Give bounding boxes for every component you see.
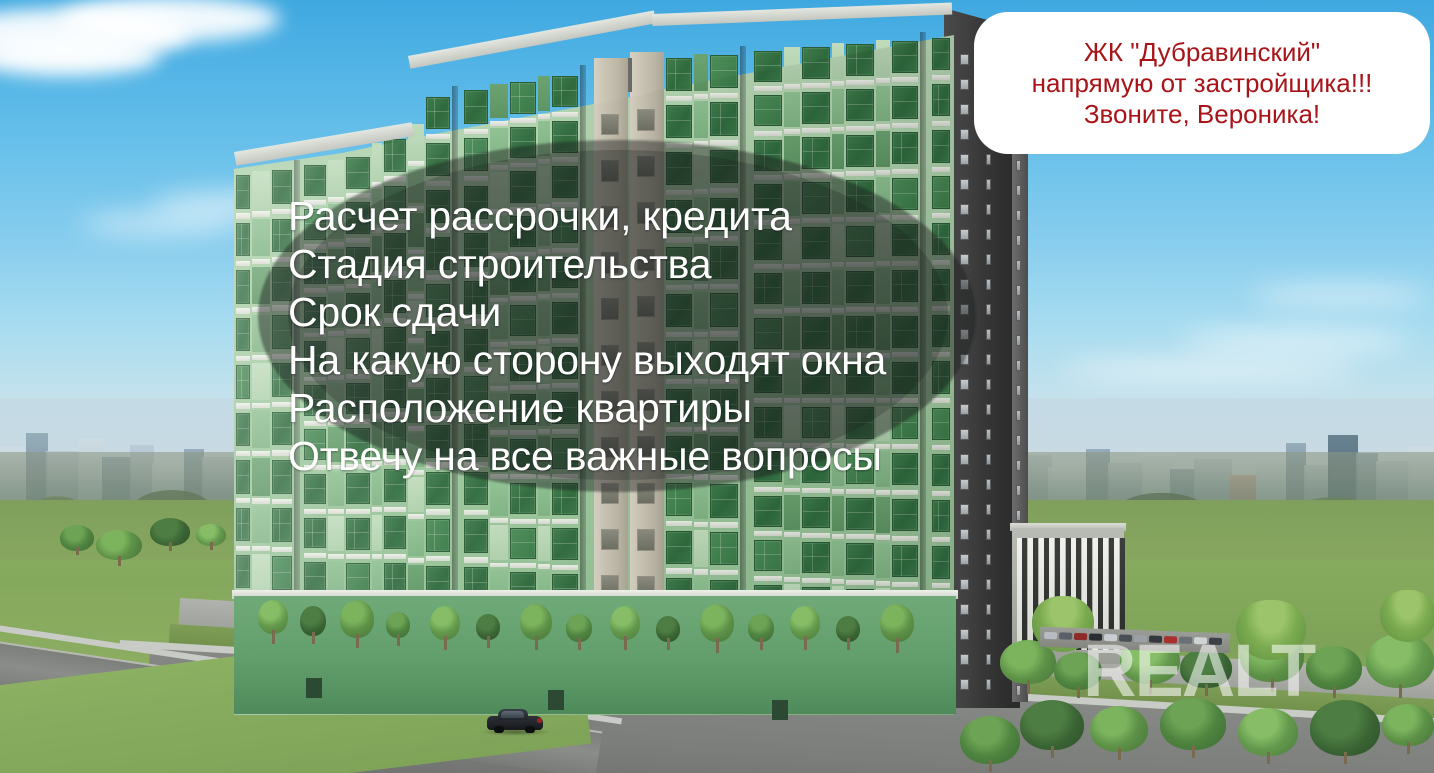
facade-window	[236, 413, 250, 446]
facade-window	[236, 508, 250, 541]
facade-band	[510, 563, 536, 568]
tree-trunk	[76, 547, 79, 555]
tower-edge-window	[1016, 285, 1021, 296]
tree-trunk	[1118, 748, 1121, 760]
tower-window	[960, 529, 969, 540]
tree-trunk	[397, 634, 400, 646]
facade-panel	[252, 171, 270, 208]
facade-band	[236, 451, 250, 456]
realt-watermark: REALT	[1083, 634, 1314, 708]
facade-band	[538, 519, 550, 524]
tower-edge-window	[1016, 310, 1021, 321]
tree-trunk	[1407, 742, 1410, 754]
facade-band	[464, 510, 488, 515]
facade-window	[236, 318, 250, 351]
facade-window	[846, 44, 874, 76]
tree	[790, 606, 820, 640]
facade-band	[832, 489, 844, 494]
stairwell-window	[601, 114, 619, 135]
tree-trunk	[444, 636, 447, 650]
facade-panel	[784, 539, 800, 574]
facade-band	[892, 582, 918, 587]
facade-band	[694, 569, 708, 574]
facade-window	[802, 542, 830, 573]
facade-band	[236, 308, 250, 313]
facade-band	[892, 536, 918, 541]
facade-window	[236, 270, 250, 303]
facade-window	[710, 102, 738, 135]
tree-trunk	[760, 638, 763, 650]
facade-window	[666, 531, 692, 564]
facade-panel	[328, 160, 344, 195]
tree	[700, 604, 734, 642]
facade-band	[666, 521, 692, 526]
tree	[258, 600, 288, 634]
tower-window	[960, 554, 969, 565]
facade-band	[710, 93, 738, 98]
facade-window	[552, 76, 578, 108]
tree-trunk	[578, 638, 581, 650]
building-stripe	[1022, 538, 1027, 650]
tree-trunk	[847, 638, 850, 650]
facade-panel	[832, 496, 844, 531]
facade-panel	[252, 458, 270, 495]
tower-edge-window	[1016, 410, 1021, 421]
facade-band	[784, 577, 800, 582]
facade-window	[754, 95, 782, 126]
facade-panel	[832, 89, 844, 124]
facade-panel	[784, 92, 800, 127]
facade-panel	[832, 541, 844, 576]
facade-window	[892, 132, 918, 164]
facade-band	[426, 509, 450, 514]
facade-panel	[876, 86, 890, 122]
tree	[1238, 708, 1298, 756]
cloud	[1060, 360, 1360, 380]
facade-band	[464, 557, 488, 562]
facade-window	[932, 130, 950, 162]
facade-band	[372, 507, 382, 512]
tower-window	[960, 579, 969, 590]
facade-band	[876, 170, 890, 175]
facade-band	[538, 114, 550, 119]
tree	[1306, 646, 1362, 690]
tower-edge-window	[1016, 435, 1021, 446]
facade-band	[346, 554, 370, 559]
facade-panel	[252, 219, 270, 256]
facade-band	[754, 576, 782, 581]
cloud	[1250, 286, 1430, 304]
facade-window	[802, 47, 830, 78]
entrance-door	[306, 678, 322, 698]
tower-window	[986, 654, 991, 665]
tower-window	[960, 654, 969, 665]
facade-band	[408, 558, 424, 563]
facade-window	[932, 38, 950, 70]
tree-trunk	[1344, 752, 1347, 764]
facade-band	[876, 581, 890, 586]
facade-band	[426, 134, 450, 139]
facade-band	[666, 96, 692, 101]
facade-band	[510, 118, 536, 123]
entrance-door	[548, 690, 564, 710]
tree	[1382, 704, 1434, 746]
stairwell-window	[637, 109, 655, 130]
facade-window	[272, 508, 292, 542]
facade-band	[754, 131, 782, 136]
facade-panel	[408, 477, 424, 511]
facade-panel	[784, 495, 800, 530]
tree-trunk	[1192, 746, 1195, 758]
facade-band	[932, 537, 950, 542]
facade-panel	[372, 143, 382, 179]
facade-panel	[490, 525, 508, 559]
facade-window	[236, 175, 250, 208]
facade-band	[754, 86, 782, 91]
facade-panel	[252, 506, 270, 543]
tower-edge-window	[1016, 260, 1021, 271]
tree-trunk	[169, 542, 172, 551]
tree-trunk	[989, 760, 992, 772]
stairwell-window	[601, 529, 619, 550]
facade-band	[754, 487, 782, 492]
tree-trunk	[1077, 686, 1080, 698]
facade-window	[510, 483, 536, 514]
facade-band	[694, 522, 708, 527]
facade-window	[754, 496, 782, 527]
tree-trunk	[1399, 684, 1402, 698]
tree	[340, 600, 374, 638]
facade-window	[710, 532, 738, 565]
tower-edge-window	[1016, 210, 1021, 221]
facade-band	[252, 259, 270, 264]
facade-panel	[490, 84, 508, 118]
facade-band	[236, 213, 250, 218]
facade-window	[932, 546, 950, 578]
facade-band	[236, 356, 250, 361]
facade-window	[236, 460, 250, 493]
tree-trunk	[716, 638, 719, 653]
facade-window	[666, 105, 692, 138]
facade-window	[932, 84, 950, 116]
facade-band	[372, 554, 382, 559]
facade-band	[408, 514, 424, 519]
facade-window	[236, 555, 250, 588]
facade-window	[272, 556, 292, 590]
tree-trunk	[356, 634, 359, 648]
facade-panel	[252, 410, 270, 447]
car-wheel	[494, 726, 504, 733]
tower-window	[960, 479, 969, 490]
tower-window	[986, 554, 991, 565]
facade-window	[846, 135, 874, 167]
facade-band	[784, 84, 800, 89]
facade-panel	[832, 43, 844, 78]
facade-panel	[694, 54, 708, 91]
car-window	[501, 711, 524, 718]
feature-list-overlay: Расчет рассрочки, кредита Стадия строите…	[288, 192, 1008, 480]
facade-panel	[490, 481, 508, 515]
tower-window	[960, 679, 969, 690]
facade-window	[464, 90, 488, 123]
facade-band	[490, 518, 508, 523]
facade-band	[832, 534, 844, 539]
facade-band	[252, 403, 270, 408]
tower-window	[960, 604, 969, 615]
facade-panel	[876, 40, 890, 76]
facade-panel	[252, 363, 270, 400]
facade-band	[272, 547, 292, 552]
facade-band	[846, 171, 874, 176]
facade-band	[802, 488, 830, 493]
facade-band	[328, 554, 344, 559]
tower-edge-window	[1016, 360, 1021, 371]
roof-antenna	[628, 58, 632, 92]
moving-car	[487, 709, 543, 733]
facade-band	[832, 579, 844, 584]
tower-window	[986, 529, 991, 540]
tower-edge-window	[1016, 685, 1021, 696]
tree-trunk	[312, 632, 315, 644]
facade-band	[892, 123, 918, 128]
facade-window	[510, 82, 536, 113]
tree	[960, 716, 1020, 764]
tree	[520, 604, 552, 640]
tower-edge-window	[1016, 160, 1021, 171]
facade-window	[802, 497, 830, 528]
facade-band	[892, 77, 918, 82]
facade-window	[236, 223, 250, 256]
facade-band	[328, 509, 344, 514]
facade-band	[552, 519, 578, 524]
tower-window	[986, 179, 991, 190]
tree-trunk	[210, 542, 213, 550]
tree	[1020, 700, 1084, 750]
tower-edge-window	[1016, 185, 1021, 196]
facade-band	[538, 564, 550, 569]
tower-window	[960, 129, 969, 140]
facade-band	[384, 507, 406, 512]
tower-window	[986, 504, 991, 515]
facade-band	[784, 129, 800, 134]
facade-window	[304, 518, 326, 549]
feature-line-5: Расположение квартиры	[288, 384, 1008, 432]
facade-window	[346, 157, 370, 189]
speech-bubble: ЖК "Дубравинский" напрямую от застройщик…	[974, 12, 1430, 154]
feature-line-1: Расчет рассрочки, кредита	[288, 192, 1008, 240]
facade-band	[510, 519, 536, 524]
facade-band	[710, 570, 738, 575]
tree	[1090, 706, 1148, 752]
facade-panel	[538, 76, 550, 111]
facade-window	[384, 516, 406, 549]
facade-window	[892, 41, 918, 73]
facade-window	[754, 51, 782, 82]
cloud	[80, 214, 240, 234]
tower-window	[986, 604, 991, 615]
facade-band	[252, 451, 270, 456]
facade-window	[426, 519, 450, 552]
facade-band	[832, 127, 844, 132]
facade-band	[552, 565, 578, 570]
facade-panel	[372, 515, 382, 551]
facade-panel	[876, 497, 890, 533]
facade-band	[932, 583, 950, 588]
tower-window	[986, 629, 991, 640]
building-stripe	[1017, 538, 1022, 650]
stairwell-window	[637, 529, 655, 550]
tree-trunk	[804, 636, 807, 650]
facade-window	[666, 58, 692, 91]
facade-window	[846, 498, 874, 530]
feature-line-4: На какую сторону выходят окна	[288, 336, 1008, 384]
facade-panel	[876, 131, 890, 167]
facade-band	[384, 554, 406, 559]
facade-window	[710, 55, 738, 88]
tree	[610, 606, 640, 640]
facade-band	[892, 169, 918, 174]
facade-panel	[694, 530, 708, 567]
facade-band	[846, 126, 874, 131]
facade-window	[304, 562, 326, 593]
tower-window	[986, 679, 991, 690]
facade-band	[552, 112, 578, 117]
speech-bubble-text: ЖК "Дубравинский" напрямую от застройщик…	[1032, 37, 1373, 130]
tower-window	[960, 154, 969, 165]
facade-window	[846, 89, 874, 121]
tower-window	[960, 629, 969, 640]
facade-band	[846, 580, 874, 585]
tower-window	[960, 79, 969, 90]
facade-panel	[876, 543, 890, 579]
facade-band	[932, 491, 950, 496]
facade-band	[236, 403, 250, 408]
facade-window	[426, 97, 450, 130]
facade-band	[876, 535, 890, 540]
tower-window	[960, 179, 969, 190]
facade-window	[384, 139, 406, 172]
facade-band	[802, 83, 830, 88]
facade-panel	[252, 554, 270, 591]
tower-window	[986, 579, 991, 590]
tree	[1366, 634, 1434, 688]
parked-car	[1059, 632, 1072, 639]
facade-window	[932, 500, 950, 532]
facade-band	[832, 81, 844, 86]
facade-window	[892, 545, 918, 577]
facade-band	[710, 140, 738, 145]
facade-band	[252, 498, 270, 503]
facade-window	[892, 499, 918, 531]
facade-window	[552, 528, 578, 560]
tree-trunk	[272, 630, 275, 644]
tower-edge-window	[1016, 460, 1021, 471]
facade-band	[784, 532, 800, 537]
car-wheel	[525, 726, 535, 733]
facade-band	[802, 533, 830, 538]
facade-band	[304, 553, 326, 558]
facade-band	[932, 167, 950, 172]
facade-window	[236, 365, 250, 398]
facade-band	[846, 489, 874, 494]
tree-trunk	[896, 638, 899, 653]
facade-window	[464, 519, 488, 552]
facade-band	[932, 75, 950, 80]
facade-band	[784, 488, 800, 493]
feature-line-6: Отвечу на все важные вопросы	[288, 432, 1008, 480]
tree-trunk	[118, 556, 121, 566]
facade-window	[892, 86, 918, 118]
callout-line-2: напрямую от застройщика!!!	[1032, 68, 1373, 99]
tree-trunk	[487, 636, 490, 648]
facade-band	[666, 568, 692, 573]
facade-panel	[408, 521, 424, 555]
facade-panel	[538, 526, 550, 561]
tower-window	[960, 104, 969, 115]
tree	[880, 604, 914, 642]
parked-car	[1044, 632, 1057, 639]
car-taillight	[537, 718, 542, 723]
callout-line-1: ЖК "Дубравинский"	[1032, 37, 1373, 68]
facade-panel	[784, 47, 800, 82]
facade-band	[802, 128, 830, 133]
callout-line-3: Звоните, Вероника!	[1032, 99, 1373, 130]
facade-band	[802, 578, 830, 583]
entrance-door	[772, 700, 788, 720]
facade-band	[932, 121, 950, 126]
tower-window	[960, 54, 969, 65]
facade-window	[346, 518, 370, 550]
tower-edge-window	[1016, 385, 1021, 396]
cloud	[1180, 330, 1410, 352]
facade-band	[846, 534, 874, 539]
building-stripe	[1028, 538, 1033, 650]
facade-band	[710, 522, 738, 527]
facade-band	[236, 261, 250, 266]
tree	[430, 606, 460, 640]
facade-band	[252, 211, 270, 216]
facade-window	[510, 528, 536, 559]
tower-edge-window	[1016, 510, 1021, 521]
facade-band	[490, 563, 508, 568]
tree-trunk	[1333, 686, 1336, 698]
tree-trunk	[624, 636, 627, 650]
facade-band	[236, 498, 250, 503]
tree	[1310, 700, 1380, 756]
tower-edge-window	[1016, 335, 1021, 346]
facade-band	[252, 546, 270, 551]
facade-band	[846, 80, 874, 85]
facade-window	[846, 543, 874, 575]
tree-trunk	[1267, 752, 1270, 764]
feature-line-2: Стадия строительства	[288, 240, 1008, 288]
tree-trunk	[667, 638, 670, 650]
feature-line-3: Срок сдачи	[288, 288, 1008, 336]
facade-band	[304, 509, 326, 514]
facade-panel	[694, 101, 708, 138]
facade-window	[802, 137, 830, 168]
screenshot-canvas: Расчет рассрочки, кредита Стадия строите…	[0, 0, 1434, 773]
facade-band	[464, 129, 488, 134]
tower-edge-window	[1016, 485, 1021, 496]
facade-window	[754, 540, 782, 571]
facade-band	[272, 499, 292, 504]
facade-band	[876, 78, 890, 83]
facade-band	[876, 124, 890, 129]
facade-panel	[328, 516, 344, 551]
facade-panel	[832, 134, 844, 169]
facade-band	[408, 161, 424, 166]
